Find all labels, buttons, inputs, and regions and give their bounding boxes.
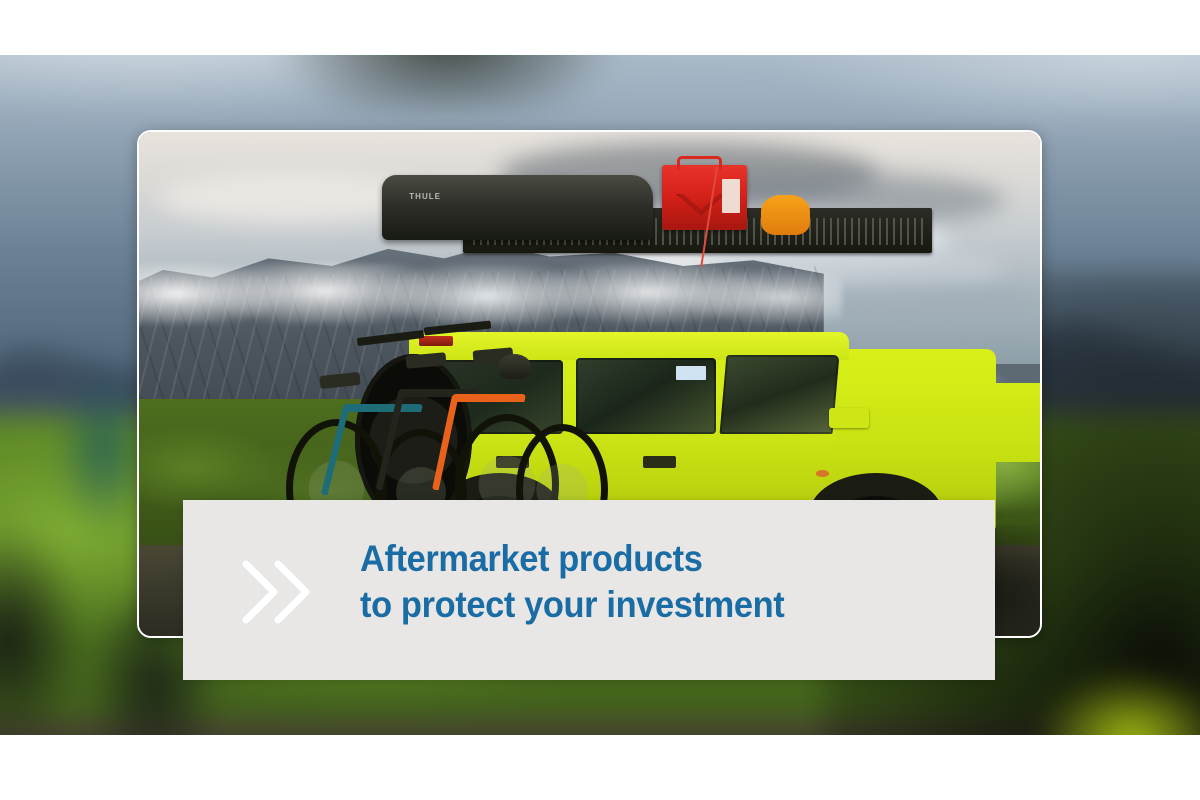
double-chevron-right-icon (228, 542, 328, 642)
bike-helmet (498, 354, 532, 379)
jerry-can (662, 165, 748, 231)
caption-panel: Aftermarket products to protect your inv… (183, 500, 995, 680)
jerry-can-emboss (675, 194, 726, 216)
vehicle-window-sticker (676, 366, 706, 380)
thule-logo: THULE (409, 192, 441, 201)
orange-gear-item (761, 195, 811, 235)
vehicle-windshield (719, 355, 839, 434)
background-vehicle-body (1020, 659, 1200, 735)
bike-saddle (405, 352, 446, 368)
bike-handlebar (424, 320, 492, 335)
caption-line-2: to protect your investment (360, 582, 937, 628)
bike-saddle (319, 372, 360, 389)
caption-text-block: Aftermarket products to protect your inv… (360, 536, 980, 628)
vehicle-wing-mirror (829, 408, 869, 428)
background-roofbox (208, 55, 684, 110)
jerry-can-label (722, 179, 741, 213)
bike-handlebar (356, 329, 424, 345)
vehicle-door-handle (643, 456, 676, 467)
caption-line-1: Aftermarket products (360, 536, 937, 582)
thule-roof-box: THULE (382, 175, 652, 241)
banner-stage: THULE (0, 0, 1200, 800)
